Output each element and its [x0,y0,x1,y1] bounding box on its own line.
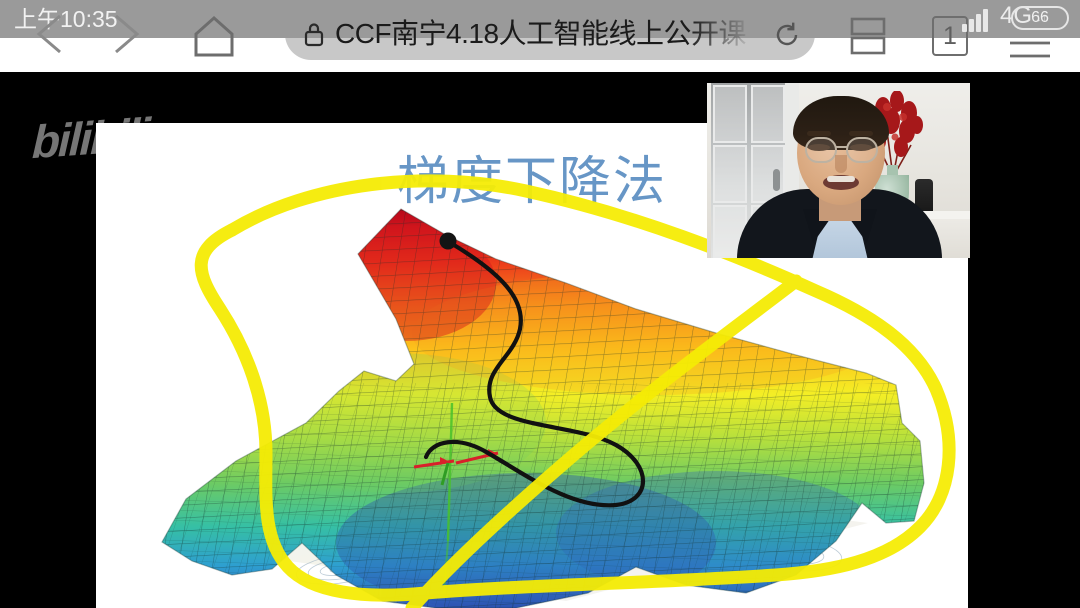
webcam-eyebrow-right [849,131,873,136]
video-letterbox-right [968,72,1080,608]
battery-indicator: 66 [1011,6,1069,30]
video-player-stage[interactable]: bilibili 梯度下降法 [0,72,1080,608]
webcam-eyebrow-left [807,131,831,136]
webcam-glasses-bridge [836,146,847,148]
split-screen-icon[interactable] [848,14,888,58]
tab-count-label: 1 [943,22,957,50]
webcam-teeth [827,176,855,182]
browser-chrome: 上午10:35 CCF南宁4.18人工智能线上公开课 [0,0,1080,72]
forward-button[interactable] [108,12,144,56]
webcam-glasses-lens-left [805,137,837,163]
lock-icon [303,21,325,47]
webcam-glasses-lens-right [846,137,878,163]
webcam-door-knob [773,169,780,191]
back-button[interactable] [32,12,68,56]
menu-icon[interactable] [1004,34,1056,64]
address-bar-text: CCF南宁4.18人工智能线上公开课 [335,17,746,51]
webcam-inset[interactable] [707,83,970,258]
signal-strength-icon [962,4,990,32]
mobile-browser-screen: 上午10:35 CCF南宁4.18人工智能线上公开课 [0,0,1080,608]
reload-icon[interactable] [773,21,801,49]
webcam-nose [835,155,847,173]
battery-level-label: 66 [1031,9,1049,27]
address-bar[interactable]: CCF南宁4.18人工智能线上公开课 [285,8,815,60]
home-icon[interactable] [190,14,238,58]
